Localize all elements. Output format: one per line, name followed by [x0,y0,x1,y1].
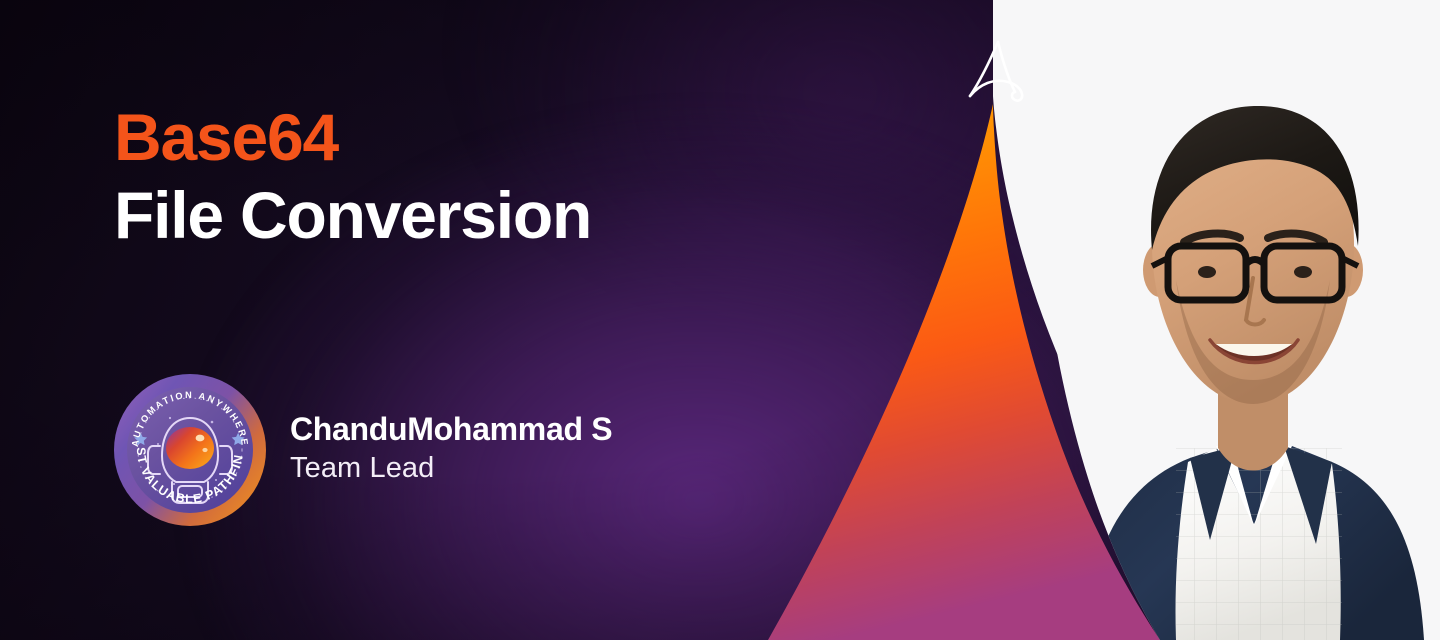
page-title: Base64 File Conversion [114,104,774,251]
speaker-banner: Base64 File Conversion [0,0,1440,640]
presenter-role: Team Lead [290,451,612,486]
title-line-1: Base64 [114,104,774,171]
automation-anywhere-a-icon [958,34,1040,106]
presenter-text-block: ChanduMohammad S Team Lead [290,410,612,490]
speaker-portrait [1040,74,1440,640]
presenter-name: ChanduMohammad S [290,410,612,448]
title-line-2: File Conversion [114,181,774,250]
presenter-block: AUTOMATION ANYWHERE MOST VALUABLE PATHFI… [112,372,612,528]
mvp-pathfinder-badge-icon: AUTOMATION ANYWHERE MOST VALUABLE PATHFI… [112,372,268,528]
